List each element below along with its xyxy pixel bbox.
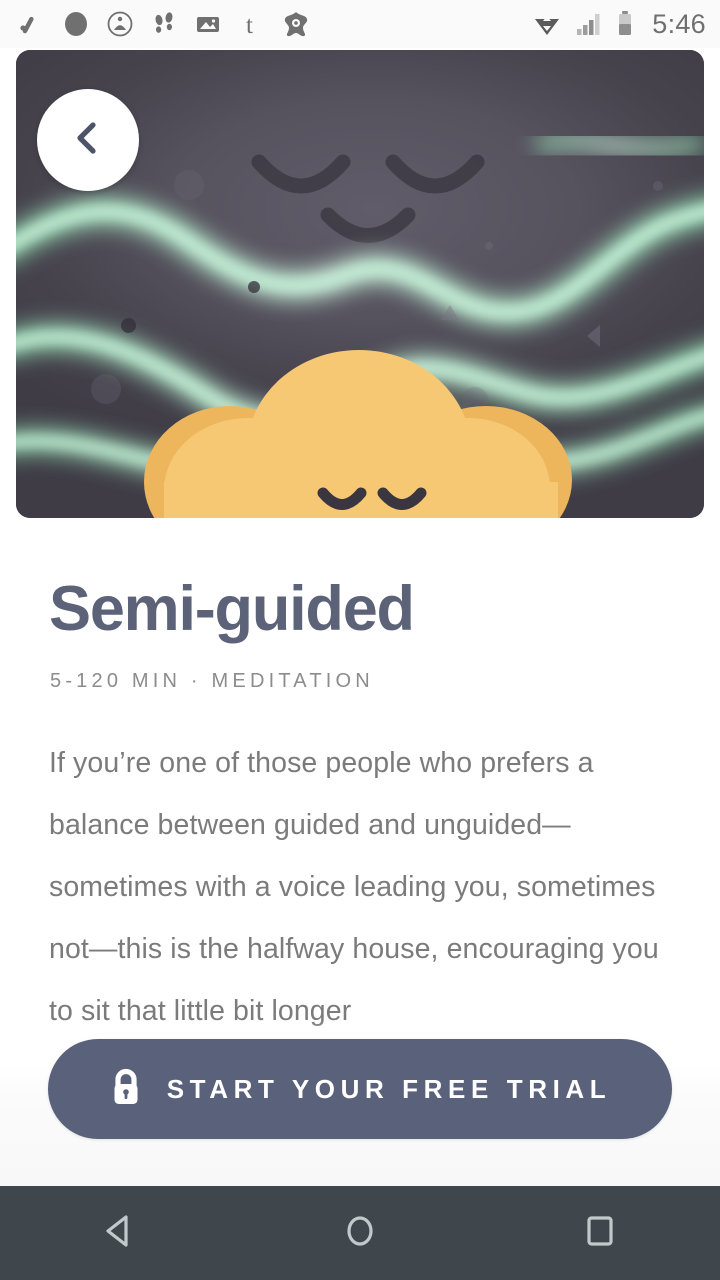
description-text: If you’re one of those people who prefer…: [49, 732, 671, 1042]
lock-icon: [109, 1066, 143, 1113]
check-slash-icon: [18, 10, 46, 38]
battery-icon: [616, 9, 634, 39]
circle-icon: [339, 1210, 381, 1257]
triangle-left-icon: [99, 1210, 141, 1257]
status-bar-notification-icons: t: [18, 10, 532, 38]
hero-illustration-card: [16, 50, 704, 518]
cta-label: START YOUR FREE TRIAL: [167, 1074, 612, 1105]
meta-line: 5-120 MIN · MEDITATION: [50, 670, 374, 693]
meditation-circle-icon: [106, 10, 134, 38]
back-button[interactable]: [37, 89, 139, 191]
nav-recents-button[interactable]: [540, 1186, 660, 1280]
square-icon: [579, 1210, 621, 1257]
status-bar-system-icons: 5:46: [532, 9, 706, 40]
page-title: Semi-guided: [49, 578, 414, 641]
nav-home-button[interactable]: [300, 1186, 420, 1280]
start-free-trial-button[interactable]: START YOUR FREE TRIAL: [48, 1039, 672, 1139]
footsteps-icon: [150, 10, 178, 38]
wifi-transfer-icon: [532, 9, 562, 39]
tumblr-t-icon: t: [238, 10, 266, 38]
chevron-left-icon: [65, 115, 111, 166]
circle-filled-icon: [62, 10, 90, 38]
cellular-signal-icon: [574, 9, 604, 39]
svg-text:t: t: [246, 12, 253, 38]
status-bar: t: [0, 0, 720, 48]
nav-back-button[interactable]: [60, 1186, 180, 1280]
android-navigation-bar: [0, 1186, 720, 1280]
photo-icon: [194, 10, 222, 38]
avast-shield-icon: [282, 10, 310, 38]
status-bar-clock: 5:46: [652, 9, 706, 40]
